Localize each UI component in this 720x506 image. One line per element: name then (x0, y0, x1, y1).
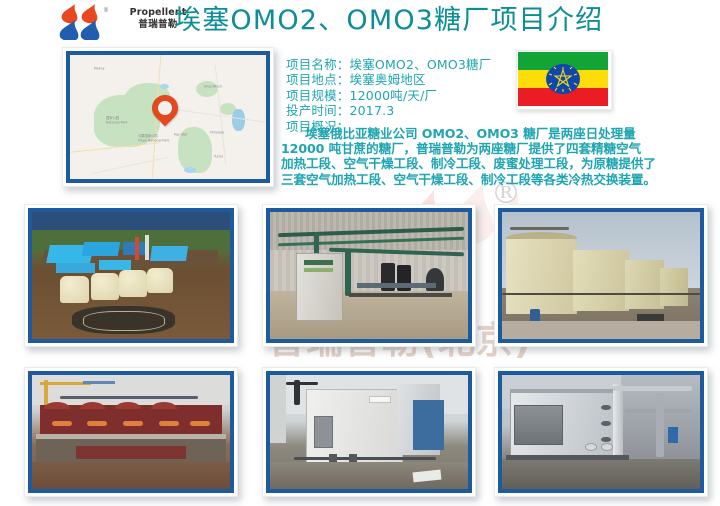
hx-nozzle-2 (601, 421, 611, 427)
photo-frame-inner (498, 371, 704, 493)
photo-air-handling-unit[interactable] (262, 367, 476, 497)
hx-vertical-riser (613, 384, 623, 464)
hx-coil-face (514, 405, 564, 446)
page-title: 埃塞OMO2、OMO3糖厂项目介绍 (174, 1, 603, 41)
hx-gauge-2 (601, 443, 613, 451)
vessel-orange-cap-4 (159, 421, 179, 427)
photo-frame-inner (266, 208, 472, 343)
tank-2 (573, 250, 628, 311)
map-label-4: Mago National Park (138, 139, 169, 143)
photo-image-pump-station (270, 212, 468, 339)
slide-page: ® ro 普瑞普勒(北京) ® Propellent 普瑞普勒 埃塞OMO2、O… (0, 0, 720, 506)
ahu-valve-1 (329, 454, 337, 462)
aerial-roof-5 (56, 263, 96, 273)
map-label-6: Key Afer (174, 133, 187, 137)
construction-lower-vessel (76, 446, 187, 460)
pump-skid-base (349, 293, 452, 297)
aerial-roof-2 (82, 242, 120, 256)
hx-nozzle-3 (601, 437, 611, 443)
hx-base-frame (506, 455, 629, 461)
tanks-road (502, 321, 700, 339)
ahu-left-column (270, 375, 286, 443)
tank-1 (506, 235, 577, 314)
project-description: 埃塞俄比亚糖业公司 OMO2、OMO3 糖厂是两座日处理量 12000 吨甘蔗的… (281, 126, 713, 187)
map-label-2: National Park (106, 121, 128, 125)
vessel-top-2 (80, 402, 106, 409)
map-label-8: Turmi (214, 155, 223, 159)
aerial-chimney-1 (135, 237, 139, 260)
tanks-handrail (502, 293, 700, 295)
aerial-chimney-2 (145, 235, 149, 260)
vessel-orange-cap-5 (190, 421, 210, 427)
photo-heat-exchanger[interactable] (494, 367, 708, 497)
map-label-9: Arba Minch (204, 85, 222, 89)
construction-crane-arm (83, 381, 115, 384)
ahu-bottom-pipe (294, 457, 437, 460)
hx-floor (502, 459, 700, 489)
tank-4 (660, 268, 688, 306)
map-water-pond-2 (184, 167, 196, 173)
pump-cabinet-label (304, 260, 334, 265)
map-label-1: 国家公园 (106, 115, 119, 120)
vessel-orange-cap-1 (52, 421, 72, 427)
map-photo: Mekuy 国家公园 National Park 马果国家公园 Mago Nat… (70, 55, 266, 179)
aerial-tank-4 (147, 268, 173, 293)
vessel-top-3 (115, 402, 141, 409)
flag-star-icon (546, 64, 580, 94)
aerial-tank-2 (91, 273, 119, 300)
aerial-pond-ring (83, 311, 164, 331)
hx-horizontal-pipe-1 (613, 386, 692, 391)
map-label-7: Omorate (210, 131, 224, 135)
vessel-top-1 (44, 402, 70, 409)
map-water-lake (232, 109, 245, 131)
construction-header-pipe (60, 396, 199, 399)
pump-manifold (357, 283, 436, 288)
vessel-orange-cap-2 (87, 421, 107, 427)
page-header: ® Propellent 普瑞普勒 埃塞OMO2、OMO3糖厂项目介绍 (0, 0, 720, 44)
aerial-roof-6 (99, 260, 131, 270)
photo-image-vessels-construction (32, 375, 230, 489)
hx-top-flange (510, 389, 621, 394)
svg-text:®: ® (103, 7, 109, 14)
photo-frame-inner (498, 208, 704, 343)
ahu-blue-panel (413, 400, 445, 450)
map-label-0: Mekuy (94, 67, 105, 71)
photo-vessels-construction[interactable] (24, 367, 238, 497)
construction-sky (32, 375, 230, 405)
tank-3 (625, 260, 665, 308)
map-label-3: 马果国家公园 (138, 133, 157, 138)
tanks-top-walkway (510, 227, 569, 230)
aerial-roof-4 (150, 246, 188, 261)
description-line-2: 12000 吨甘蔗的糖厂，普瑞普勒为两座糖厂提供了四套精糖空气 (281, 141, 713, 156)
photo-frame-inner (266, 371, 472, 493)
hx-blue-drum (668, 427, 678, 443)
construction-ground (32, 462, 230, 489)
pump-cabinet-strip (304, 268, 334, 272)
tank-1-roof (506, 232, 577, 238)
ethiopia-flag (516, 50, 612, 110)
propellent-flame-logo-icon: ® (58, 4, 116, 40)
aerial-tank-1 (60, 276, 90, 304)
photo-frame-inner (28, 208, 234, 343)
map-frame-inner: Mekuy 国家公园 National Park 马果国家公园 Mago Nat… (66, 51, 270, 183)
flag-emblem-disc (546, 64, 580, 94)
ahu-valve-2 (349, 454, 357, 462)
photo-image-factory-aerial (32, 212, 230, 339)
map-park-region-4 (196, 81, 218, 97)
aerial-tank-3 (119, 270, 147, 297)
photo-frame-inner (28, 371, 234, 493)
ahu-top-pipe (286, 382, 318, 385)
logo: ® (58, 4, 116, 40)
photo-image-air-handling-unit (270, 375, 468, 489)
pump-riser-2 (345, 250, 351, 296)
photo-image-heat-exchanger (502, 375, 700, 489)
map-water-pond (160, 84, 169, 89)
ahu-nameplate (369, 396, 391, 404)
photo-image-storage-tanks (502, 212, 700, 339)
description-line-3: 加热工段、空气干燥工段、制冷工段、废蜜处理工段，为原糖提供了 (281, 156, 713, 171)
ahu-access-door (314, 416, 334, 448)
description-line-1: 埃塞俄比亚糖业公司 OMO2、OMO3 糖厂是两座日处理量 (281, 126, 713, 141)
project-location-map[interactable]: Mekuy 国家公园 National Park 马果国家公园 Mago Nat… (62, 47, 274, 187)
photo-storage-tanks[interactable] (494, 204, 708, 347)
vessel-orange-cap-3 (123, 421, 143, 427)
photo-factory-aerial[interactable] (24, 204, 238, 347)
hx-riser-2 (656, 393, 664, 457)
flag-graphic (518, 52, 608, 106)
construction-vessel-row (40, 405, 222, 435)
vessel-top-4 (151, 402, 177, 409)
photo-pump-station[interactable] (262, 204, 476, 347)
description-line-4: 三套空气加热工段、空气干燥工段、制冷工段等各类冷热交换装置。 (281, 172, 713, 187)
